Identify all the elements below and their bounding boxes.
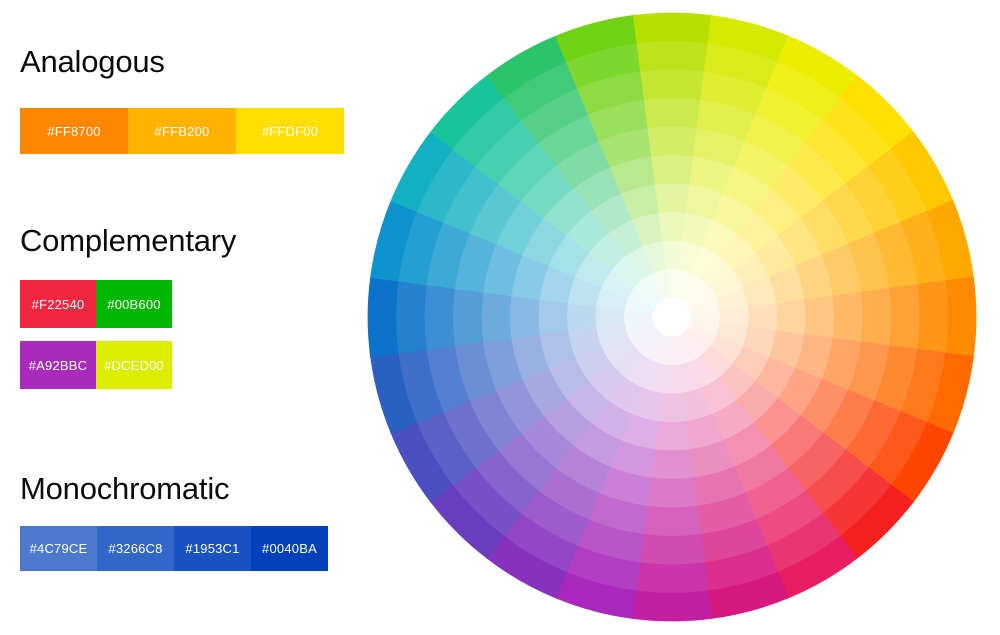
color-wheel-segment[interactable] bbox=[832, 292, 863, 343]
color-wheel-segment[interactable] bbox=[651, 155, 694, 185]
color-wheel-icon bbox=[364, 9, 980, 625]
color-wheel-segment[interactable] bbox=[945, 277, 977, 358]
color-swatch[interactable]: #1953C1 bbox=[174, 526, 251, 571]
color-swatch[interactable]: #FFDF00 bbox=[236, 108, 344, 154]
color-wheel-figure bbox=[364, 9, 980, 625]
color-wheel-segment[interactable] bbox=[639, 70, 705, 101]
color-swatch[interactable]: #FF8700 bbox=[20, 108, 128, 154]
swatch-row-complementary-1: #F22540 #00B600 bbox=[20, 280, 172, 328]
color-wheel-segment[interactable] bbox=[482, 292, 513, 343]
color-wheel-segment[interactable] bbox=[368, 277, 400, 358]
color-wheel-segment[interactable] bbox=[510, 296, 540, 339]
color-swatch[interactable]: #3266C8 bbox=[97, 526, 174, 571]
color-wheel-segment[interactable] bbox=[747, 303, 777, 331]
color-wheel-segment[interactable] bbox=[643, 505, 701, 536]
color-wheel-segment[interactable] bbox=[567, 303, 597, 331]
scheme-title-analogous: Analogous bbox=[20, 46, 165, 77]
color-wheel-segment[interactable] bbox=[632, 590, 713, 622]
color-wheel-segment[interactable] bbox=[539, 299, 569, 334]
color-swatch[interactable]: #4C79CE bbox=[20, 526, 97, 571]
color-wheel-segment[interactable] bbox=[654, 420, 689, 450]
color-wheel-segment[interactable] bbox=[635, 561, 708, 592]
color-wheel-segment[interactable] bbox=[658, 392, 686, 422]
color-swatch[interactable]: #F22540 bbox=[20, 280, 96, 328]
scheme-title-complementary: Complementary bbox=[20, 225, 236, 256]
color-wheel-segment[interactable] bbox=[453, 288, 484, 346]
color-wheel-segment[interactable] bbox=[396, 280, 427, 353]
color-swatch[interactable]: #DCED00 bbox=[96, 341, 172, 389]
color-wheel-segment[interactable] bbox=[916, 280, 947, 353]
color-wheel-hub bbox=[653, 298, 692, 337]
swatch-row-complementary-2: #A92BBC #DCED00 bbox=[20, 341, 172, 389]
color-swatch[interactable]: #0040BA bbox=[251, 526, 328, 571]
color-wheel-segment[interactable] bbox=[647, 477, 698, 508]
swatch-row-monochromatic: #4C79CE #3266C8 #1953C1 #0040BA bbox=[20, 526, 328, 571]
color-wheel-segment[interactable] bbox=[860, 288, 891, 346]
color-wheel-segment[interactable] bbox=[425, 284, 456, 350]
palette-panel: Analogous #FF8700 #FFB200 #FFDF00 Comple… bbox=[0, 0, 370, 635]
color-wheel-segment[interactable] bbox=[635, 41, 708, 72]
color-wheel-segment[interactable] bbox=[639, 533, 705, 564]
color-wheel-segment[interactable] bbox=[647, 127, 698, 158]
swatch-row-analogous: #FF8700 #FFB200 #FFDF00 bbox=[20, 108, 344, 154]
color-wheel-segment[interactable] bbox=[888, 284, 919, 350]
color-wheel-segment[interactable] bbox=[803, 296, 833, 339]
scheme-title-monochromatic: Monochromatic bbox=[20, 473, 229, 504]
color-wheel-segment[interactable] bbox=[654, 184, 689, 214]
color-wheel-segment[interactable] bbox=[651, 448, 694, 478]
color-swatch[interactable]: #A92BBC bbox=[20, 341, 96, 389]
color-swatch[interactable]: #FFB200 bbox=[128, 108, 236, 154]
color-wheel-segment[interactable] bbox=[643, 98, 701, 129]
color-wheel-segment[interactable] bbox=[658, 212, 686, 242]
color-wheel-segment[interactable] bbox=[775, 299, 805, 334]
color-wheel-segment[interactable] bbox=[632, 13, 713, 45]
color-swatch[interactable]: #00B600 bbox=[96, 280, 172, 328]
